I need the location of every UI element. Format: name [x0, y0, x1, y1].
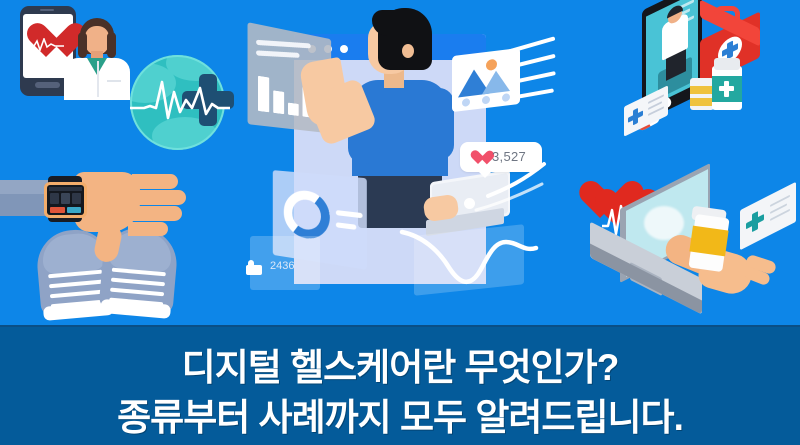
- watch-status-bar: [49, 187, 82, 191]
- smartwatch-screen: [47, 185, 84, 215]
- shoelace: [111, 278, 165, 287]
- chart-bar: [258, 76, 269, 112]
- finger: [132, 190, 186, 205]
- medicine-box: [740, 182, 796, 251]
- illustration-telemedicine-pharmacy: [614, 0, 800, 150]
- laptop-logo: [464, 198, 475, 209]
- hero-illustration: 3,527 2436: [252, 4, 552, 324]
- like-count-bubble: 3,527: [460, 142, 542, 172]
- fan-line: [512, 88, 554, 99]
- fan-line: [508, 71, 556, 85]
- like-count-value: 3,527: [492, 149, 526, 164]
- shoelace: [50, 290, 104, 299]
- chart-bar: [288, 103, 299, 116]
- illustration-online-prescription: [572, 178, 800, 328]
- person-ear: [402, 44, 414, 58]
- chart-bar: [273, 90, 284, 114]
- fan-line: [501, 36, 556, 55]
- poster-canvas: 3,527 2436 디지털 헬스케어란 무엇인가? 종류: [0, 0, 800, 445]
- shoelace: [110, 288, 164, 297]
- window-dot-icon: [340, 45, 348, 53]
- banner-edge: [0, 325, 800, 327]
- watch-metric-tile: [72, 193, 81, 204]
- watch-button-gps: [67, 207, 81, 213]
- doctor-hair-left: [78, 32, 87, 58]
- watch-metric-tile: [61, 193, 70, 204]
- bottle-label-cross: [712, 76, 742, 102]
- pill-stripe: [690, 86, 714, 94]
- card-text-line: [336, 210, 363, 218]
- fan-line: [504, 54, 555, 70]
- bottle-label: [689, 226, 728, 257]
- finger: [132, 174, 178, 189]
- watch-button-red: [50, 207, 65, 213]
- decorative-line-fan: [498, 38, 564, 108]
- illustration-wearable-fitness-tracker: [0, 168, 200, 328]
- title-banner: 디지털 헬스케어란 무엇인가? 종류부터 사례까지 모두 알려드립니다.: [0, 325, 800, 445]
- finger: [132, 206, 182, 221]
- doctor-hair-right: [107, 32, 116, 58]
- female-doctor-figure: [60, 18, 132, 100]
- pill-stripe: [690, 98, 714, 106]
- first-aid-kit-handle: [714, 6, 740, 20]
- card-text-line: [256, 50, 300, 58]
- heart-icon: [470, 151, 486, 165]
- person-arm-right: [424, 88, 454, 160]
- card-dot: [462, 98, 470, 107]
- card-text-line: [336, 222, 356, 230]
- phone-home-button: [35, 82, 60, 88]
- headline-line-1: 디지털 헬스케어란 무엇인가?: [0, 337, 800, 391]
- card-text-line: [256, 40, 311, 49]
- card-dot: [482, 96, 490, 105]
- bottle-cap: [714, 58, 740, 70]
- box-text-line: [770, 195, 790, 207]
- illustration-global-health-monitor: [126, 52, 236, 157]
- thumbs-up-count: 2436: [270, 260, 294, 272]
- watch-metric-tile: [50, 193, 59, 204]
- phone-speaker: [40, 9, 54, 11]
- shoelace: [49, 280, 103, 289]
- donut-chart-segment: [280, 189, 333, 240]
- person-hair-front: [372, 10, 424, 36]
- thumbs-up-row: 2436: [246, 258, 336, 278]
- ecg-line-icon: [130, 78, 230, 124]
- coat-pocket: [107, 80, 121, 82]
- ecg-line-icon: [28, 38, 64, 51]
- finger: [128, 222, 168, 236]
- thumbs-up-icon: [246, 260, 262, 275]
- coat-seam: [97, 61, 99, 97]
- translucent-card: [414, 224, 524, 296]
- headline-line-2: 종류부터 사례까지 모두 알려드립니다.: [0, 387, 800, 441]
